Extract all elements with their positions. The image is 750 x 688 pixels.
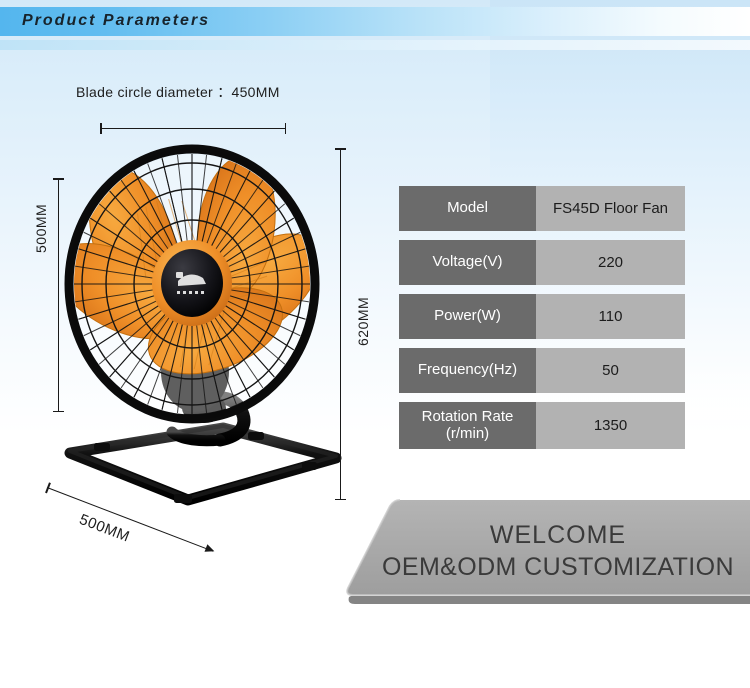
welcome-text-block: WELCOME OEM&ODM CUSTOMIZATION [344, 496, 750, 606]
page-title: Product Parameters [22, 12, 210, 30]
table-row: Model FS45D Floor Fan [399, 186, 685, 231]
dimension-height-right: 620MM [355, 297, 371, 346]
measure-line-blade-diameter [100, 128, 286, 129]
spec-label-power: Power(W) [399, 294, 536, 339]
measure-line-height-right [340, 148, 341, 500]
fan-illustration [52, 140, 352, 560]
fan-head [52, 148, 340, 420]
header-underbanner [0, 40, 750, 50]
table-row: Power(W) 110 [399, 294, 685, 339]
spec-label-frequency: Frequency(Hz) [399, 348, 536, 393]
spec-label-voltage: Voltage(V) [399, 240, 536, 285]
spec-value-frequency: 50 [536, 348, 685, 393]
spec-value-voltage: 220 [536, 240, 685, 285]
spec-label-rotation-rate: Rotation Rate (r/min) [399, 402, 536, 449]
measure-line-height-left [58, 178, 59, 412]
product-image-floor-fan [52, 140, 352, 560]
welcome-line-2: OEM&ODM CUSTOMIZATION [382, 551, 734, 583]
spec-value-power: 110 [536, 294, 685, 339]
dimension-blade-diameter: Blade circle diameter ：450MM [76, 82, 280, 102]
spec-table: Model FS45D Floor Fan Voltage(V) 220 Pow… [399, 186, 685, 458]
spec-value-rotation-rate: 1350 [536, 402, 685, 449]
dimension-height-left: 500MM [33, 204, 49, 253]
table-row: Rotation Rate (r/min) 1350 [399, 402, 685, 449]
spec-label-model: Model [399, 186, 536, 231]
table-row: Frequency(Hz) 50 [399, 348, 685, 393]
product-parameters-page: Product Parameters [0, 0, 750, 688]
welcome-banner: WELCOME OEM&ODM CUSTOMIZATION [344, 496, 750, 606]
fan-hub [152, 240, 232, 326]
welcome-line-1: WELCOME [490, 519, 626, 551]
spec-value-model: FS45D Floor Fan [536, 186, 685, 231]
table-row: Voltage(V) 220 [399, 240, 685, 285]
